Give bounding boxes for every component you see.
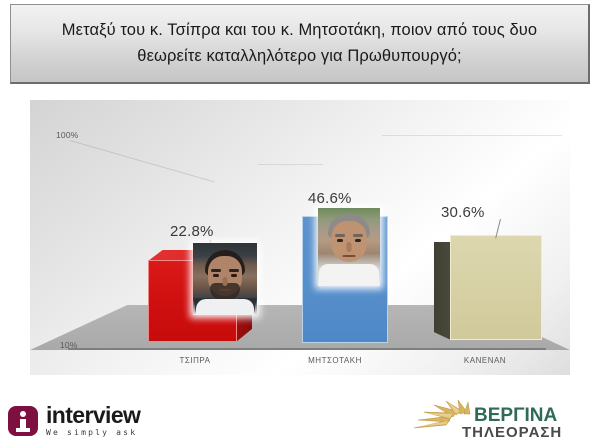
portrait-shirt: [319, 264, 379, 286]
category-label-tsipra: ΤΣΙΠΡΑ: [140, 356, 250, 365]
portrait-eye-right: [231, 274, 237, 277]
background-guide-line: [382, 135, 562, 136]
interview-wordmark-group: interview We simply ask: [46, 405, 140, 437]
axis-tick-bottom: 10%: [60, 340, 78, 350]
bar-kanenan-side-face: [434, 242, 451, 340]
portrait-eye-left: [213, 274, 219, 277]
interview-logo: interview We simply ask: [8, 405, 140, 437]
value-label-kanenan: 30.6%: [441, 204, 485, 221]
portrait-mouth: [220, 289, 231, 291]
portrait-brow-left: [335, 234, 345, 237]
portrait-nose: [347, 242, 352, 252]
portrait-brow-right: [229, 269, 239, 272]
portrait-nose: [223, 277, 228, 286]
portrait-mouth: [343, 255, 356, 257]
background-guide-line: [258, 164, 323, 165]
value-label-tsipra: 22.8%: [170, 223, 214, 240]
portrait-eye-right: [355, 239, 361, 242]
i-dot: [20, 411, 26, 417]
category-label-kanenan: ΚΑΝΕΝΑΝ: [430, 356, 540, 365]
question-banner: Μεταξύ του κ. Τσίπρα και του κ. Μητσοτάκ…: [10, 4, 590, 84]
question-title: Μεταξύ του κ. Τσίπρα και του κ. Μητσοτάκ…: [29, 18, 570, 69]
portrait-mitsotakis: [318, 208, 380, 286]
interview-i-badge-icon: [8, 406, 38, 436]
background-guide-line: [70, 140, 214, 182]
i-base: [16, 428, 30, 432]
footer-logos: interview We simply ask ΒΕΡΓΙΝΑ ΤΗΛΕΟΡΑΣ…: [0, 378, 600, 445]
bar-kanenan[interactable]: [434, 235, 554, 345]
category-label-mitsotakis: ΜΗΤΣΟΤΑΚΗ: [280, 356, 390, 365]
chart-baseline-axis: [68, 348, 546, 350]
portrait-eye-left: [337, 239, 343, 242]
value-label-mitsotakis: 46.6%: [308, 190, 352, 207]
portrait-tsipra: [193, 243, 257, 315]
vergina-name: ΒΕΡΓΙΝΑ: [474, 406, 557, 425]
portrait-brow-left: [211, 269, 221, 272]
poll-bar-chart: 100% 10%: [30, 100, 570, 375]
axis-tick-top: 100%: [56, 130, 79, 140]
interview-tagline: We simply ask: [46, 428, 140, 437]
interview-wordmark: interview: [46, 405, 140, 427]
portrait-brow-right: [353, 234, 363, 237]
portrait-shirt: [196, 299, 254, 315]
bar-kanenan-front-face: [450, 235, 542, 340]
vergina-logo: ΒΕΡΓΙΝΑ ΤΗΛΕΟΡΑΣΗ: [402, 400, 582, 448]
vergina-subtitle: ΤΗΛΕΟΡΑΣΗ: [462, 425, 562, 440]
